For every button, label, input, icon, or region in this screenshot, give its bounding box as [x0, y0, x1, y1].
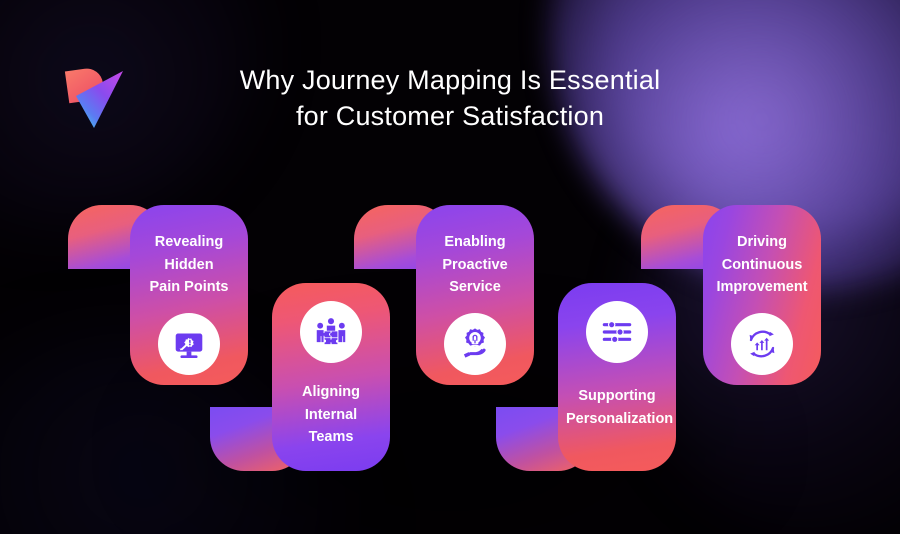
card-icon-circle-1 [158, 313, 220, 375]
bar-chart-refresh-icon [743, 325, 781, 363]
card-title-1-line-2: Hidden [164, 257, 213, 273]
card-title-4: Supporting Personalization [558, 385, 676, 430]
card-driving-continuous-improvement[interactable]: Driving Continuous Improvement [703, 205, 821, 385]
card-title-5-line-1: Driving [737, 234, 787, 250]
card-icon-circle-2 [300, 301, 362, 363]
monitor-pain-point-icon [170, 325, 208, 363]
card-title-3-line-3: Service [449, 279, 501, 295]
card-icon-circle-3 [444, 313, 506, 375]
card-row: Revealing Hidden Pain Points [0, 0, 900, 534]
card-title-5-line-2: Continuous [722, 257, 803, 273]
card-title-3-line-1: Enabling [444, 234, 505, 250]
card-title-3: Enabling Proactive Service [416, 231, 534, 299]
card-title-2-line-3: Teams [309, 429, 354, 445]
card-title-1: Revealing Hidden Pain Points [130, 231, 248, 299]
card-supporting-personalization[interactable]: Supporting Personalization [558, 283, 676, 471]
card-title-5-line-3: Improvement [716, 279, 807, 295]
card-title-4-line-2: Personalization [566, 411, 673, 427]
card-aligning-internal-teams[interactable]: Aligning Internal Teams [272, 283, 390, 471]
card-title-3-line-2: Proactive [442, 257, 507, 273]
hand-lightbulb-gear-icon [456, 325, 494, 363]
card-icon-circle-4 [586, 301, 648, 363]
card-title-4-line-1: Supporting [578, 388, 655, 404]
team-puzzle-icon [312, 313, 350, 351]
card-title-2-line-1: Aligning [302, 384, 360, 400]
infographic-canvas: Why Journey Mapping Is Essential for Cus… [0, 0, 900, 534]
card-title-2: Aligning Internal Teams [272, 381, 390, 449]
card-enabling-proactive-service[interactable]: Enabling Proactive Service [416, 205, 534, 385]
card-title-5: Driving Continuous Improvement [703, 231, 821, 299]
sliders-personalization-icon [598, 313, 636, 351]
card-revealing-hidden-pain-points[interactable]: Revealing Hidden Pain Points [130, 205, 248, 385]
card-title-2-line-2: Internal [305, 407, 357, 423]
card-icon-circle-5 [731, 313, 793, 375]
card-title-1-line-1: Revealing [155, 234, 224, 250]
card-title-1-line-3: Pain Points [150, 279, 229, 295]
